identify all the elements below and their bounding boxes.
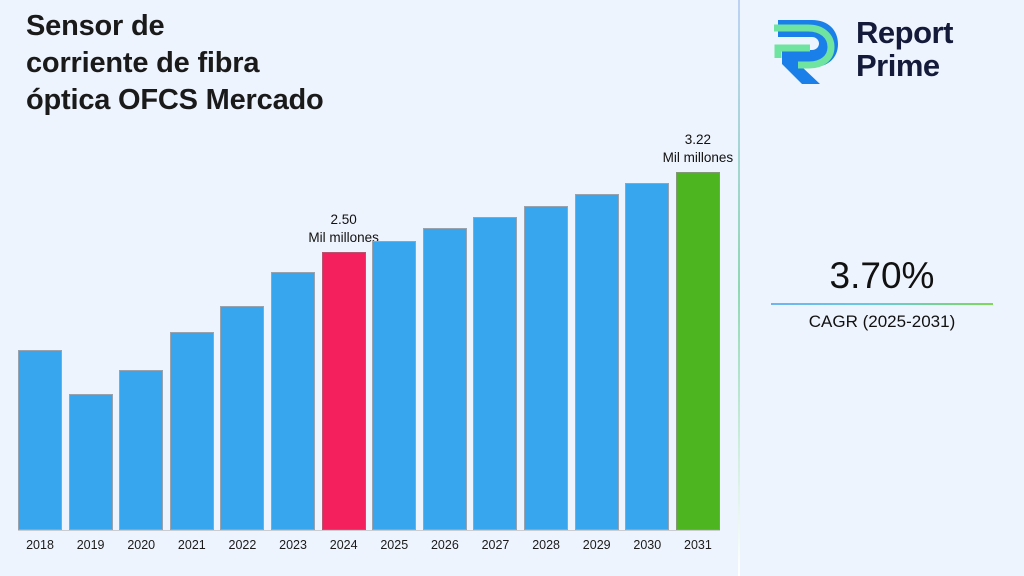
bar-slot (220, 130, 264, 530)
bar-2028[interactable] (524, 206, 568, 530)
bar-slot (372, 130, 416, 530)
bar-slot (575, 130, 619, 530)
bar-slot (473, 130, 517, 530)
bar-2031[interactable] (676, 172, 720, 530)
x-tick-2024: 2024 (322, 538, 366, 552)
x-tick-2023: 2023 (271, 538, 315, 552)
x-tick-2025: 2025 (372, 538, 416, 552)
cagr-value: 3.70% (740, 255, 1024, 297)
bar-slot (69, 130, 113, 530)
brand-name: Report Prime (856, 17, 953, 82)
bar-2026[interactable] (423, 228, 467, 530)
x-tick-2026: 2026 (423, 538, 467, 552)
page-title: Sensor de corriente de fibra óptica OFCS… (26, 8, 324, 118)
bar-2023[interactable] (271, 272, 315, 530)
report-prime-logo-icon (772, 14, 846, 86)
bar-2020[interactable] (119, 370, 163, 530)
x-tick-2031: 2031 (676, 538, 720, 552)
bar-2022[interactable] (220, 306, 264, 530)
x-tick-2022: 2022 (220, 538, 264, 552)
bar-slot (524, 130, 568, 530)
bar-2030[interactable] (625, 183, 669, 530)
x-tick-2019: 2019 (69, 538, 113, 552)
bar-slot: 3.22 Mil millones (676, 130, 720, 530)
x-axis-tick-labels: 2018201920202021202220232024202520262027… (18, 538, 720, 552)
x-tick-2021: 2021 (170, 538, 214, 552)
bar-series: 2.50 Mil millones3.22 Mil millones (18, 130, 720, 530)
bar-slot (170, 130, 214, 530)
bar-2019[interactable] (69, 394, 113, 530)
bar-2021[interactable] (170, 332, 214, 530)
bar-slot (625, 130, 669, 530)
bar-slot (423, 130, 467, 530)
x-tick-2027: 2027 (473, 538, 517, 552)
bar-slot: 2.50 Mil millones (322, 130, 366, 530)
chart-panel: Sensor de corriente de fibra óptica OFCS… (0, 0, 738, 576)
bar-2025[interactable] (372, 241, 416, 530)
bar-slot (271, 130, 315, 530)
bar-2027[interactable] (473, 217, 517, 530)
cagr-divider (771, 303, 993, 305)
x-tick-2029: 2029 (575, 538, 619, 552)
bar-2029[interactable] (575, 194, 619, 530)
x-tick-2028: 2028 (524, 538, 568, 552)
bar-2018[interactable] (18, 350, 62, 530)
brand-logo: Report Prime (772, 14, 953, 86)
brand-panel: Report Prime 3.70% CAGR (2025-2031) (740, 0, 1024, 576)
cagr-block: 3.70% CAGR (2025-2031) (740, 255, 1024, 332)
bar-slot (18, 130, 62, 530)
bar-chart-plot: 2.50 Mil millones3.22 Mil millones (18, 130, 720, 530)
x-axis-line (18, 530, 720, 531)
x-tick-2030: 2030 (625, 538, 669, 552)
infographic-page: Sensor de corriente de fibra óptica OFCS… (0, 0, 1024, 576)
cagr-caption: CAGR (2025-2031) (740, 312, 1024, 332)
x-tick-2020: 2020 (119, 538, 163, 552)
bar-2024[interactable] (322, 252, 366, 530)
x-tick-2018: 2018 (18, 538, 62, 552)
bar-slot (119, 130, 163, 530)
